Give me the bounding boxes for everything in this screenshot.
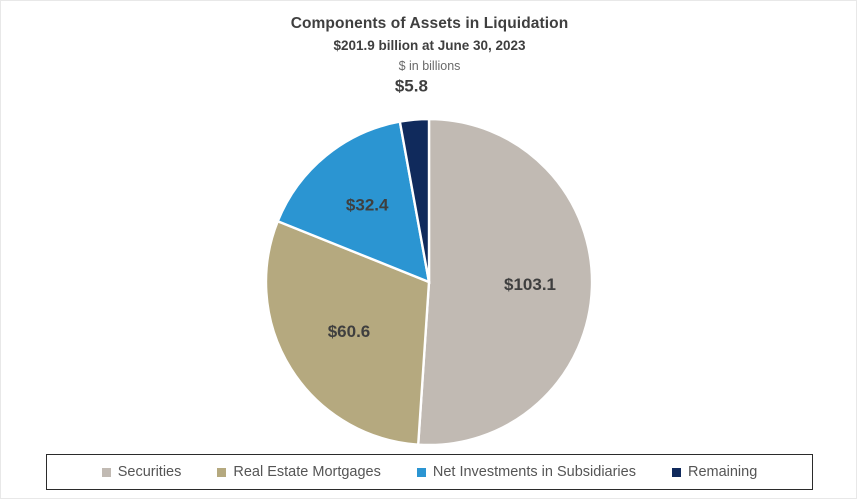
pie-data-label: $60.6 xyxy=(328,322,371,341)
legend-item[interactable]: Net Investments in Subsidiaries xyxy=(417,464,636,480)
legend-swatch-icon xyxy=(102,468,111,477)
legend-swatch-icon xyxy=(217,468,226,477)
legend-item[interactable]: Remaining xyxy=(672,464,757,480)
pie-chart-figure: Components of Assets in Liquidation $201… xyxy=(0,0,857,499)
legend-item-label: Net Investments in Subsidiaries xyxy=(433,464,636,480)
legend-swatch-icon xyxy=(417,468,426,477)
pie-svg: $103.1$60.6$32.4$5.8 xyxy=(1,1,857,456)
chart-legend: SecuritiesReal Estate MortgagesNet Inves… xyxy=(46,454,813,490)
legend-item-label: Securities xyxy=(118,464,182,480)
legend-item-label: Remaining xyxy=(688,464,757,480)
pie-data-label: $32.4 xyxy=(346,196,389,215)
pie-data-label: $5.8 xyxy=(395,77,428,96)
pie-data-label: $103.1 xyxy=(504,275,556,294)
legend-item[interactable]: Securities xyxy=(102,464,182,480)
pie-plot-area: $103.1$60.6$32.4$5.8 xyxy=(1,1,857,456)
legend-item-label: Real Estate Mortgages xyxy=(233,464,381,480)
legend-swatch-icon xyxy=(672,468,681,477)
legend-item[interactable]: Real Estate Mortgages xyxy=(217,464,381,480)
